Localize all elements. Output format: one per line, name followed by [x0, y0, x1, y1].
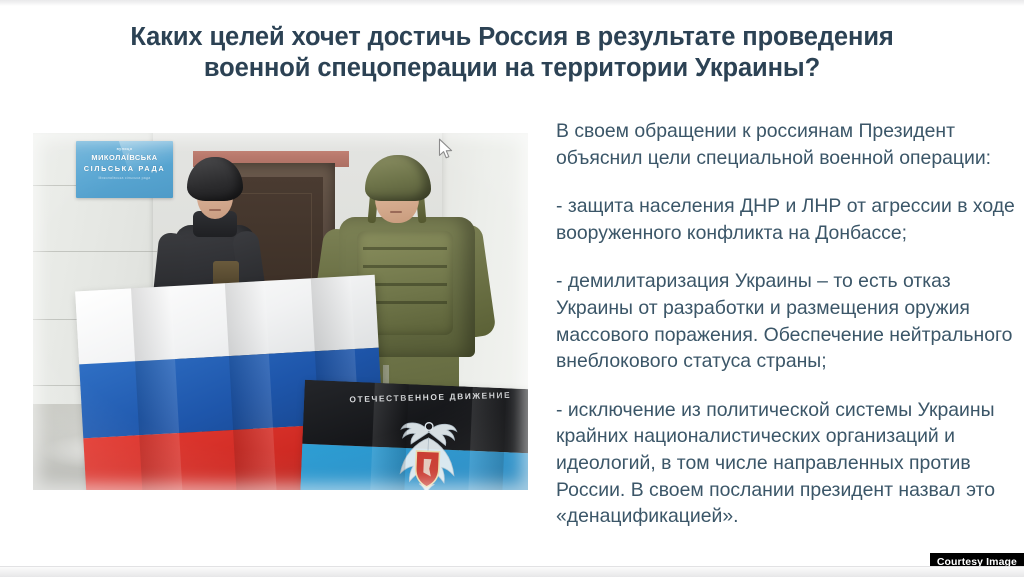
dnr-flag-fold: [367, 383, 409, 490]
page-title: Каких целей хочет достичь Россия в резул…: [40, 22, 984, 84]
photo-scene: вулиця МИКОЛАЇВСЬКА СІЛЬСЬКА РАДА Микола…: [33, 133, 528, 490]
dnr-flag-fold: [465, 387, 507, 490]
boy-helmet: [187, 157, 243, 201]
vest-webbing: [363, 283, 447, 286]
top-chrome-strip: [0, 0, 1024, 6]
vest-webbing: [363, 247, 447, 250]
body-paragraph-1: В своем обращении к россиянам Президент …: [556, 118, 1024, 171]
soldier-helmet: [365, 155, 431, 201]
vest-webbing: [363, 265, 447, 268]
slide-photo: вулиця МИКОЛАЇВСЬКА СІЛЬСЬКА РАДА Микола…: [33, 133, 528, 490]
body-paragraph-2: - защита населения ДНР и ЛНР от агрессии…: [556, 193, 1024, 246]
dnr-flag: ДНР ОТЕЧЕСТВЕННОЕ ДВИЖЕНИЕ ДОНЕЦКАЯ РЕСП…: [297, 380, 528, 490]
slide-body-text: В своем обращении к россиянам Президент …: [556, 118, 1024, 538]
boy-mouth: [209, 209, 221, 211]
street-sign-subtext: Миколаївська сільська рада: [76, 176, 173, 181]
street-sign: вулиця МИКОЛАЇВСЬКА СІЛЬСЬКА РАДА Микола…: [76, 141, 173, 198]
title-line-1: Каких целей хочет достичь Россия в резул…: [40, 22, 984, 53]
title-line-2: военной спецоперации на территории Украи…: [40, 53, 984, 84]
soldier-mouth: [390, 211, 402, 213]
body-paragraph-3: - демилитаризация Украины – то есть отка…: [556, 268, 1024, 374]
bottom-chrome-strip: [0, 566, 1024, 577]
slide-root: Каких целей хочет достичь Россия в резул…: [0, 0, 1024, 577]
body-paragraph-4: - исключение из политической системы Укр…: [556, 397, 1024, 530]
wall-seam: [33, 251, 157, 252]
